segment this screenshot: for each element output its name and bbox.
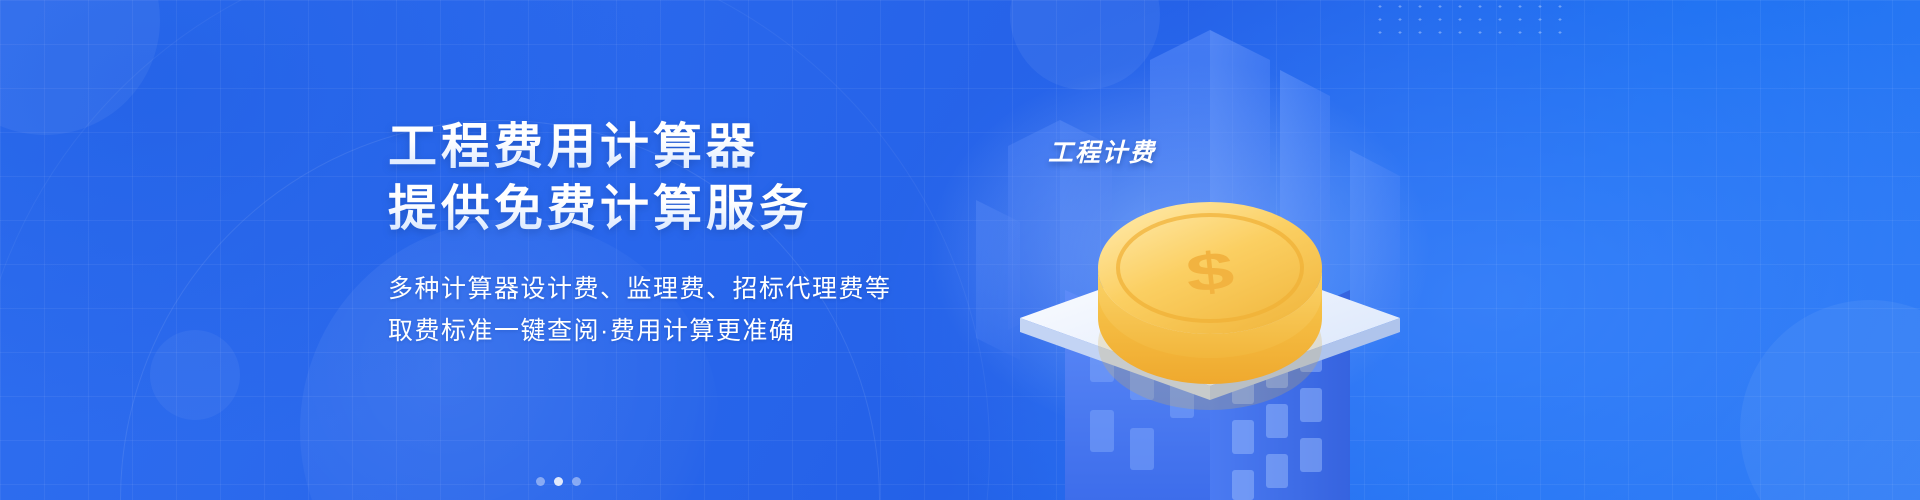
headline-line-2: 提供免费计算服务 (388, 180, 1088, 238)
decorative-circle-small-left (150, 330, 240, 420)
carousel-dot-2[interactable] (554, 477, 563, 486)
promo-banner: $ 工程计费 工程费用计算器 提供免费计算服务 多种计算器设计费、监理费、招标代… (0, 0, 1920, 500)
subtitle-line-1: 多种计算器设计费、监理费、招标代理费等 (388, 268, 1088, 310)
subtitle: 多种计算器设计费、监理费、招标代理费等 取费标准一键查阅·费用计算更准确 (388, 268, 1088, 352)
headline-line-1: 工程费用计算器 (388, 118, 1088, 176)
carousel-dot-3[interactable] (572, 477, 581, 486)
carousel-dot-1[interactable] (536, 477, 545, 486)
carousel-dots[interactable] (478, 477, 638, 486)
banner-copy: 工程费用计算器 提供免费计算服务 多种计算器设计费、监理费、招标代理费等 取费标… (388, 118, 1088, 352)
subtitle-line-2: 取费标准一键查阅·费用计算更准确 (388, 310, 1088, 352)
gold-coin: $ (1098, 202, 1322, 410)
svg-text:$: $ (1183, 240, 1237, 304)
